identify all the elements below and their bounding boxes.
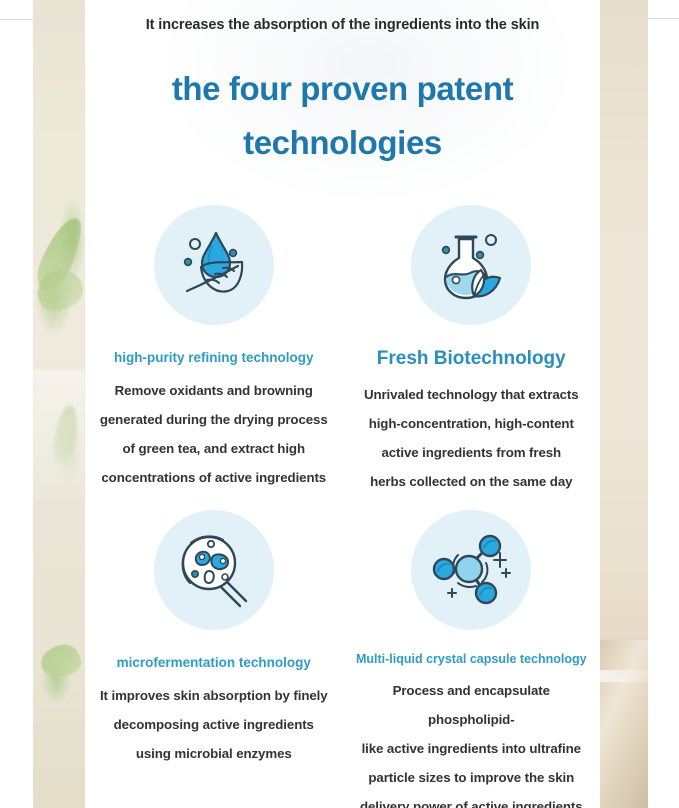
technology-title: Multi-liquid crystal capsule technology <box>356 652 587 668</box>
technology-title: Fresh Biotechnology <box>377 347 566 371</box>
description-line: Unrivaled technology that extracts <box>351 380 591 409</box>
description-line: herbs collected on the same day <box>351 467 591 496</box>
technology-description: Unrivaled technology that extracts high-… <box>351 380 591 496</box>
technology-block-multi-liquid-crystal: Multi-liquid crystal capsule technology … <box>343 510 601 808</box>
description-line: concentrations of active ingredients <box>98 463 330 492</box>
technology-row-2: microfermentation technology It improves… <box>85 510 600 808</box>
description-line: Process and encapsulate phospholipid- <box>351 676 591 734</box>
description-line: particle sizes to improve the skin <box>351 763 591 792</box>
technology-description: Remove oxidants and browning generated d… <box>98 376 330 492</box>
technology-title: microfermentation technology <box>117 655 311 672</box>
description-line: decomposing active ingredients <box>94 710 334 739</box>
technology-description: It improves skin absorption by finely de… <box>94 681 334 768</box>
right-photo-box-shape <box>600 640 648 808</box>
molecule-capsule-icon <box>411 510 531 630</box>
description-line: of green tea, and extract high <box>98 434 330 463</box>
description-line: generated during the drying process <box>98 405 330 434</box>
description-line: like active ingredients into ultrafine <box>351 734 591 763</box>
plant-leaf-icon <box>39 642 83 679</box>
technology-title: high-purity refining technology <box>114 350 314 367</box>
water-drop-leaf-icon <box>154 205 274 325</box>
technology-block-microfermentation: microfermentation technology It improves… <box>85 510 343 808</box>
description-line: active ingredients from fresh <box>351 438 591 467</box>
technology-grid: high-purity refining technology Remove o… <box>85 205 600 808</box>
technology-block-high-purity-refining: high-purity refining technology Remove o… <box>85 205 343 496</box>
headline-line-2: technologies <box>85 116 600 170</box>
left-white-margin <box>0 0 33 808</box>
eyebrow-text: It increases the absorption of the ingre… <box>85 17 600 33</box>
left-divider-line <box>0 19 33 20</box>
page-title: the four proven patent technologies <box>85 62 600 170</box>
description-line: delivery power of active ingredients <box>351 792 591 808</box>
technology-row-1: high-purity refining technology Remove o… <box>85 205 600 496</box>
description-line: high-concentration, high-content <box>351 409 591 438</box>
infographic-card: It increases the absorption of the ingre… <box>85 0 600 808</box>
technology-description: Process and encapsulate phospholipid- li… <box>351 676 591 808</box>
description-line: using microbial enzymes <box>94 739 334 768</box>
right-white-margin <box>648 0 679 808</box>
left-photo-strip <box>33 0 85 808</box>
right-divider-line <box>648 18 679 19</box>
flask-leaf-icon <box>411 205 531 325</box>
technology-block-fresh-biotechnology: Fresh Biotechnology Unrivaled technology… <box>343 205 601 496</box>
magnifier-microbe-icon <box>154 510 274 630</box>
description-line: It improves skin absorption by finely <box>94 681 334 710</box>
description-line: Remove oxidants and browning <box>98 376 330 405</box>
headline-line-1: the four proven patent <box>85 62 600 116</box>
